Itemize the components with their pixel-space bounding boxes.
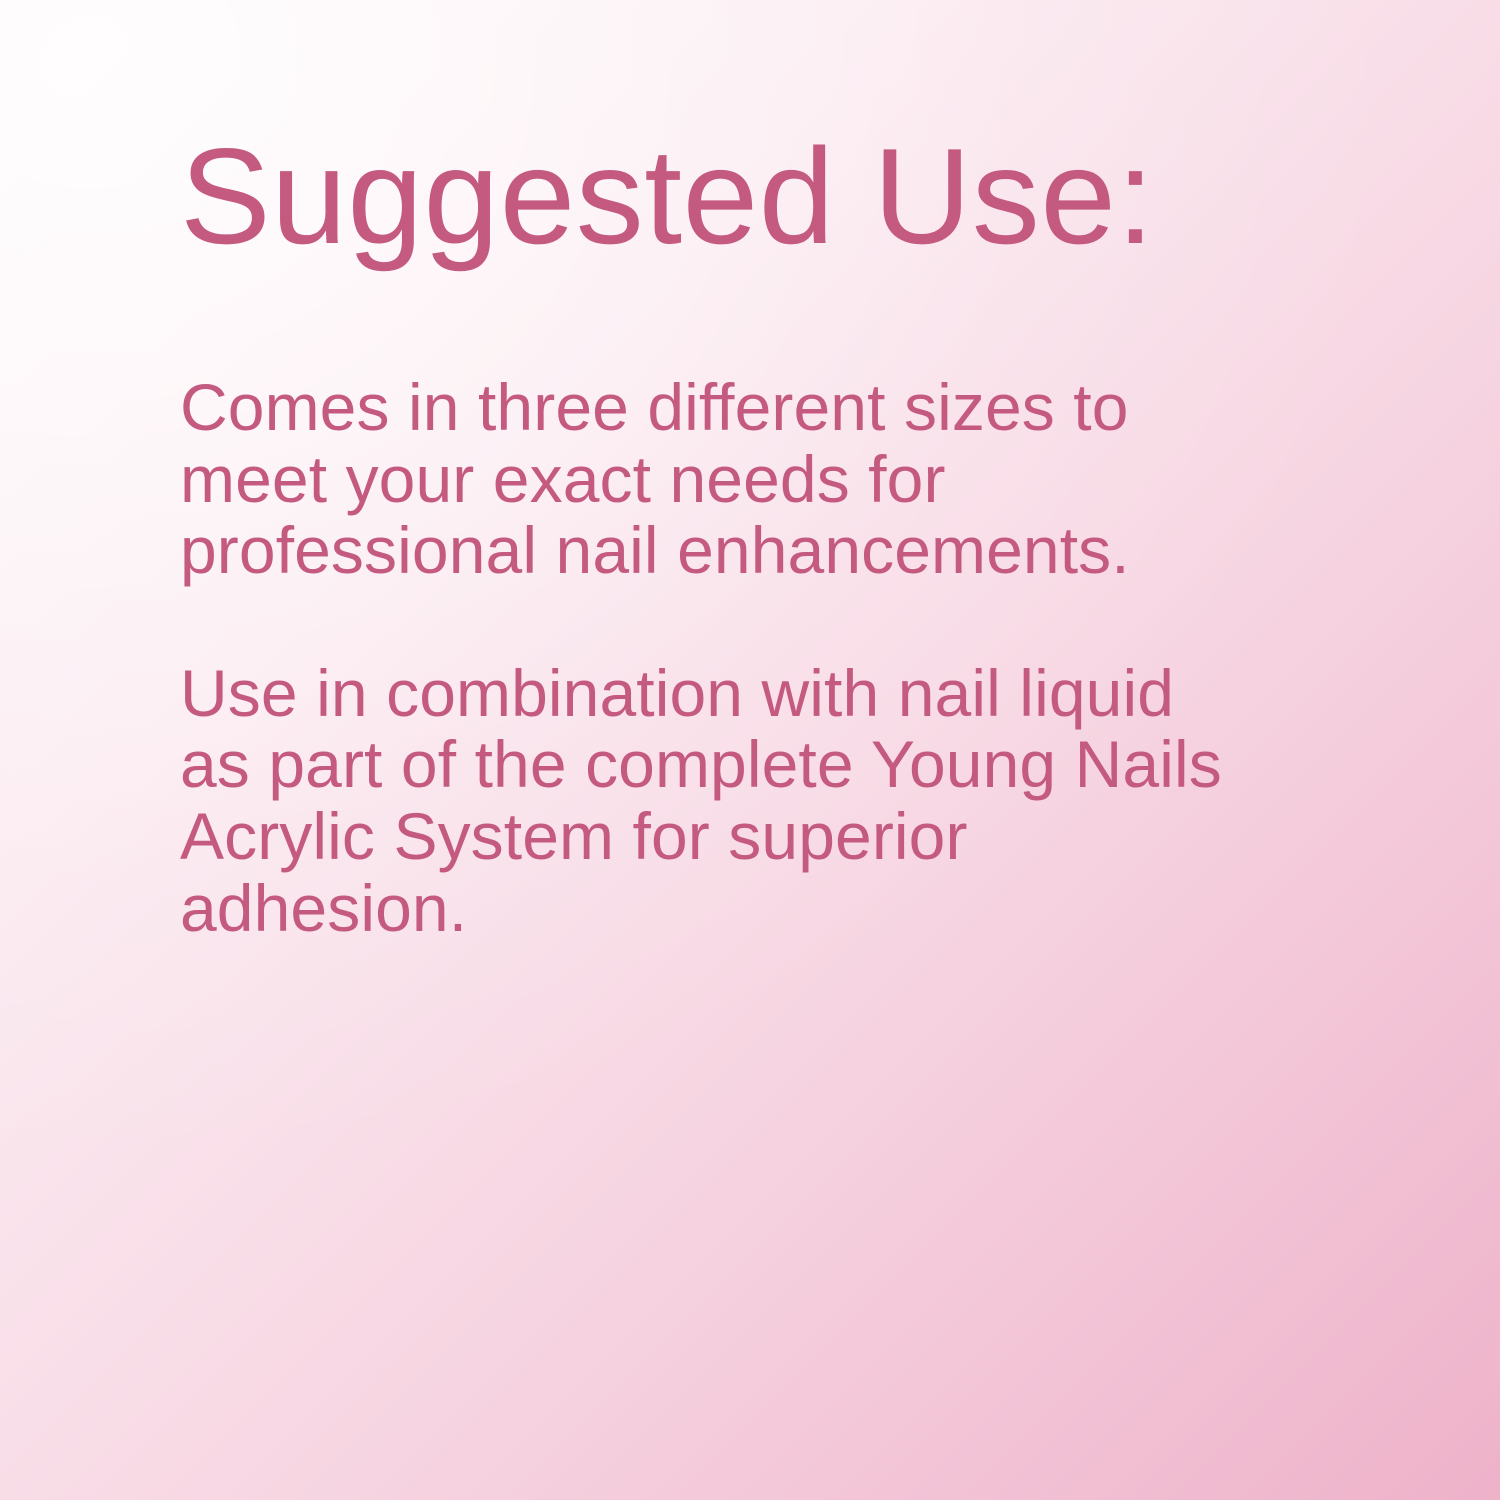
description-paragraph-1: Comes in three different sizes to meet y…	[180, 372, 1260, 587]
page-title: Suggested Use:	[180, 128, 1270, 264]
description-paragraph-2: Use in combination with nail liquid as p…	[180, 658, 1260, 944]
content-block: Suggested Use: Comes in three different …	[180, 128, 1270, 944]
suggested-use-card: Suggested Use: Comes in three different …	[0, 0, 1500, 1500]
